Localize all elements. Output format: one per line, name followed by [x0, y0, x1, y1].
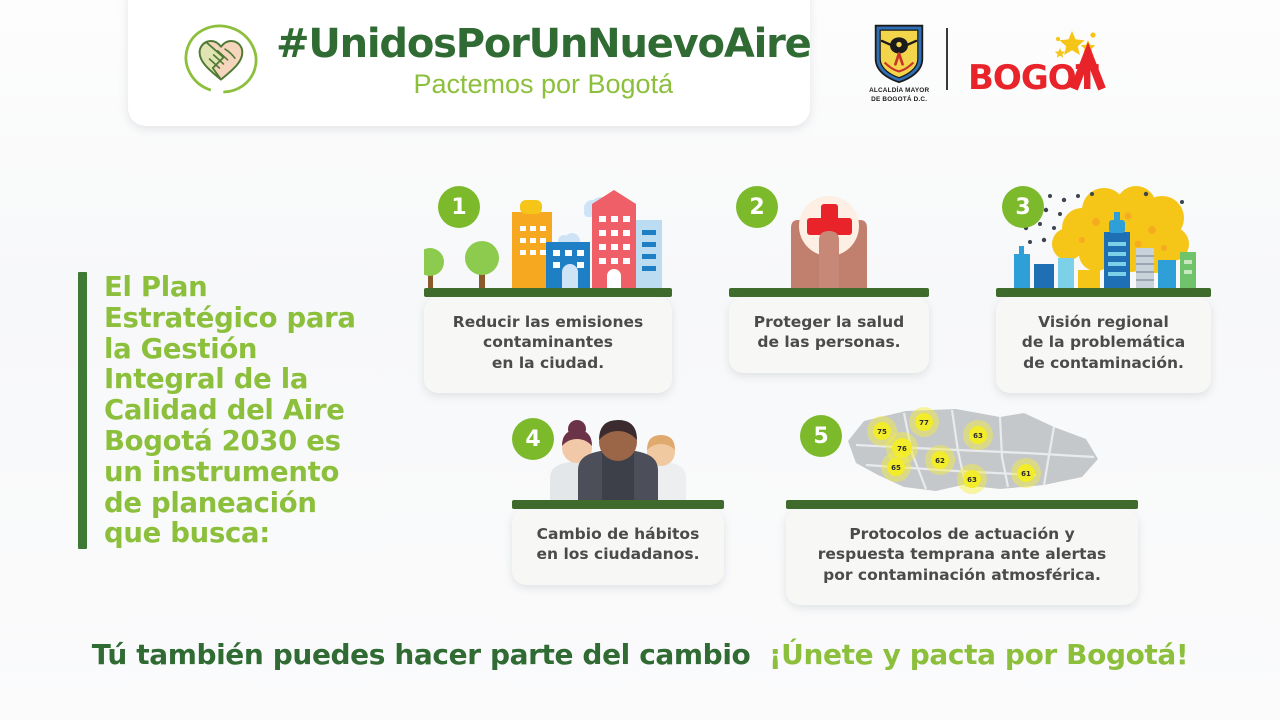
- objective-card-5[interactable]: 5 75 77 76 63: [786, 405, 1138, 605]
- marker-value: 76: [897, 445, 907, 453]
- card-shelf-bar: [729, 288, 929, 297]
- bogota-map-stations-icon: 75 77 76 63 65 62 63 61: [786, 405, 1138, 500]
- campaign-tagline: Pactemos por Bogotá: [276, 68, 811, 102]
- marker-value: 75: [877, 428, 887, 436]
- infographic-canvas: #UnidosPorUnNuevoAire Pactemos por Bogot…: [0, 0, 1280, 720]
- card-number-badge: 3: [1002, 186, 1044, 228]
- campaign-header-banner: #UnidosPorUnNuevoAire Pactemos por Bogot…: [128, 0, 810, 126]
- marker-value: 77: [919, 419, 929, 427]
- bogota-coat-of-arms-icon: [872, 23, 926, 84]
- card-label: Protocolos de actuación y respuesta temp…: [800, 524, 1124, 585]
- card-body: Cambio de hábitos en los ciudadanos.: [512, 509, 724, 585]
- alcaldia-logo: ALCALDÍA MAYOR DE BOGOTÁ D.C.: [866, 23, 932, 104]
- card-shelf-bar: [512, 500, 724, 509]
- card-number-badge: 5: [800, 415, 842, 457]
- card-label: Visión regional de la problemática de co…: [1010, 312, 1197, 373]
- card-body: Reducir las emisiones contaminantes en l…: [424, 297, 672, 393]
- card-label: Reducir las emisiones contaminantes en l…: [438, 312, 658, 373]
- bogota-wordmark-logo: BOGOT: [966, 27, 1116, 101]
- alcaldia-caption: ALCALDÍA MAYOR DE BOGOTÁ D.C.: [866, 87, 932, 104]
- card-body: Proteger la salud de las personas.: [729, 297, 929, 373]
- plan-statement: El Plan Estratégico para la Gestión Inte…: [78, 272, 356, 549]
- handshake-heart-icon: [180, 18, 262, 100]
- logo-divider: [946, 28, 948, 90]
- objective-card-4[interactable]: 4 Cambio de hábitos en los ciudadanos.: [512, 412, 724, 585]
- marker-value: 62: [935, 457, 945, 465]
- campaign-hashtag: #UnidosPorUnNuevoAire: [276, 24, 811, 65]
- card-body: Visión regional de la problemática de co…: [996, 297, 1211, 393]
- statement-text: El Plan Estratégico para la Gestión Inte…: [104, 272, 356, 549]
- marker-value: 63: [973, 432, 983, 440]
- card-number-badge: 1: [438, 186, 480, 228]
- card-label: Proteger la salud de las personas.: [743, 312, 915, 353]
- card-shelf-bar: [996, 288, 1211, 297]
- marker-value: 63: [967, 476, 977, 484]
- marker-value: 61: [1021, 470, 1031, 478]
- campaign-title-group: #UnidosPorUnNuevoAire Pactemos por Bogot…: [276, 24, 811, 102]
- statement-accent-bar: [78, 272, 87, 549]
- card-label: Cambio de hábitos en los ciudadanos.: [526, 524, 710, 565]
- footer-highlight-text: ¡Únete y pacta por Bogotá!: [769, 638, 1188, 671]
- objective-card-3[interactable]: 3: [996, 186, 1211, 393]
- card-shelf-bar: [424, 288, 672, 297]
- marker-value: 65: [891, 464, 901, 472]
- institutional-logos: ALCALDÍA MAYOR DE BOGOTÁ D.C. BOGOT: [866, 18, 1116, 110]
- card-number-badge: 2: [736, 186, 778, 228]
- card-number-badge: 4: [512, 418, 554, 460]
- card-body: Protocolos de actuación y respuesta temp…: [786, 509, 1138, 605]
- objective-card-2[interactable]: 2 Proteger la salud de las personas.: [729, 186, 929, 373]
- objective-card-1[interactable]: 1: [424, 186, 672, 393]
- card-shelf-bar: [786, 500, 1138, 509]
- footer-primary-text: Tú también puedes hacer parte del cambio: [92, 638, 751, 671]
- footer-call-to-action: Tú también puedes hacer parte del cambio…: [0, 638, 1280, 671]
